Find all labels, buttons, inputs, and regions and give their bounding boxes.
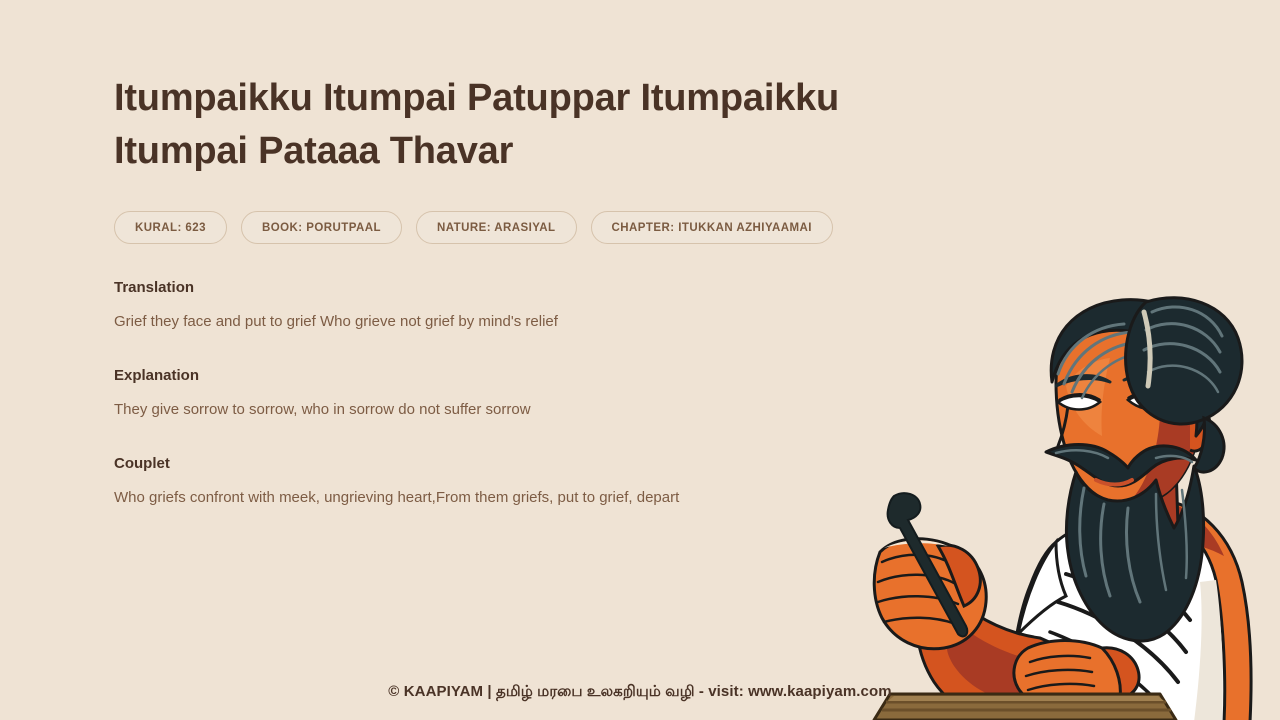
section-couplet: Couplet Who griefs confront with meek, u… bbox=[114, 454, 874, 508]
kural-content: Itumpaikku Itumpai Patuppar Itumpaikku I… bbox=[114, 72, 874, 508]
section-translation: Translation Grief they face and put to g… bbox=[114, 278, 874, 332]
footer-credit: © KAAPIYAM | தமிழ் மரபை உலகறியும் வழி - … bbox=[0, 683, 1280, 702]
page-title: Itumpaikku Itumpai Patuppar Itumpaikku I… bbox=[114, 72, 874, 178]
couplet-heading: Couplet bbox=[114, 454, 874, 474]
badge-chapter: CHAPTER: ITUKKAN AZHIYAAMAI bbox=[591, 211, 833, 244]
thiruvalluvar-illustration bbox=[860, 290, 1280, 720]
translation-heading: Translation bbox=[114, 278, 874, 298]
explanation-text: They give sorrow to sorrow, who in sorro… bbox=[114, 399, 874, 420]
explanation-heading: Explanation bbox=[114, 366, 874, 386]
kural-card: Itumpaikku Itumpai Patuppar Itumpaikku I… bbox=[0, 0, 1280, 720]
couplet-text: Who griefs confront with meek, ungrievin… bbox=[114, 487, 874, 508]
section-explanation: Explanation They give sorrow to sorrow, … bbox=[114, 366, 874, 420]
badge-kural: KURAL: 623 bbox=[114, 211, 227, 244]
metadata-badges: KURAL: 623 BOOK: PORUTPAAL NATURE: ARASI… bbox=[114, 211, 874, 244]
badge-book: BOOK: PORUTPAAL bbox=[241, 211, 402, 244]
translation-text: Grief they face and put to grief Who gri… bbox=[114, 311, 874, 332]
badge-nature: NATURE: ARASIYAL bbox=[416, 211, 577, 244]
